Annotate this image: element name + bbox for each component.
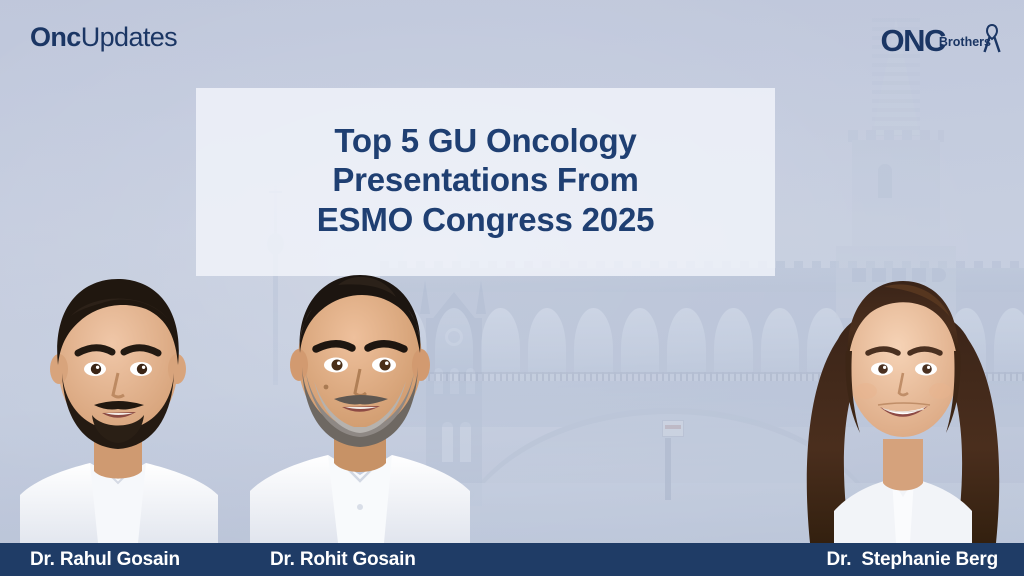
panelist-photo-rahul-gosain [6, 243, 230, 543]
title-line-1: Top 5 GU Oncology [317, 121, 655, 161]
presenter-name-rahul-gosain: Dr. Rahul Gosain [30, 543, 180, 576]
logo-onc-text: ONC [881, 25, 945, 56]
slide-canvas: Top 5 GU Oncology Presentations From ESM… [0, 0, 1024, 576]
presenter-name-rohit-gosain: Dr. Rohit Gosain [270, 543, 416, 576]
title-line-2: Presentations From [317, 160, 655, 200]
presenter-name-bar: Dr. Rahul Gosain Dr. Rohit Gosain Dr. St… [0, 543, 1024, 576]
page-title: Top 5 GU Oncology Presentations From ESM… [317, 121, 655, 244]
logo-light-text: Updates [81, 22, 177, 52]
oncbrothers-logo[interactable]: ONC Brothers [881, 20, 1002, 60]
panelist-photo-rohit-gosain [242, 241, 478, 543]
panelist-photo-stephanie-berg [788, 243, 1018, 543]
oncupdates-logo[interactable]: OncUpdates [30, 24, 177, 51]
presenter-name-stephanie-berg: Dr. Stephanie Berg [827, 543, 998, 576]
ribbon-icon [982, 24, 1002, 54]
title-line-3: ESMO Congress 2025 [317, 200, 655, 240]
logo-bold-text: Onc [30, 22, 81, 52]
